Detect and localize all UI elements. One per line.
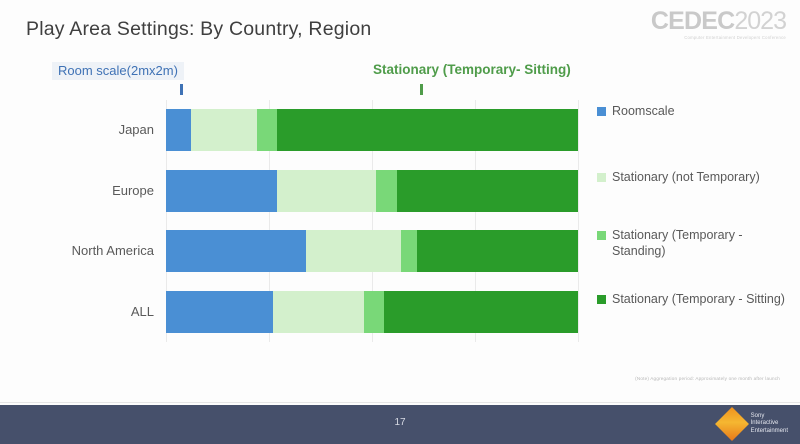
legend-label: Roomscale [612,104,675,120]
sie-brand-line-3: Entertainment [751,428,788,435]
annotation-room-scale: Room scale(2mx2m) [52,62,184,80]
chart-gridline [578,100,579,342]
sie-brand-line-1: Sony [751,413,788,420]
legend-swatch-icon [597,295,606,304]
footnote: (Note) Aggregation period: Approximately… [635,376,780,381]
chart-segment[interactable] [384,291,578,333]
legend-swatch-icon [597,173,606,182]
sie-brand-text: Sony Interactive Entertainment [751,413,788,435]
legend-swatch-icon [597,107,606,116]
sony-interactive-entertainment-logo: Sony Interactive Entertainment [720,412,788,436]
cedec-logo-subtitle: Computer Entertainment Developers Confer… [646,35,786,40]
legend-label: Stationary (Temporary - Standing) [612,228,793,259]
legend-label: Stationary (not Temporary) [612,170,760,186]
chart-category-label: Europe [112,183,154,198]
slide: Play Area Settings: By Country, Region C… [0,0,800,444]
chart-category-label: Japan [119,122,154,137]
sie-brand-line-2: Interactive [751,420,788,427]
chart-segment[interactable] [277,109,578,151]
chart-segment[interactable] [376,170,397,212]
chart-segment[interactable] [397,170,578,212]
chart-segment[interactable] [257,109,278,151]
chart-segment[interactable] [277,170,376,212]
sie-diamond-icon [715,407,749,441]
chart-segment[interactable] [273,291,364,333]
chart-category-label: North America [72,243,154,258]
page-number: 17 [0,417,800,428]
legend-item[interactable]: Stationary (Temporary - Sitting) [597,292,785,308]
cedec-logo-year: 2023 [734,7,786,35]
chart-segment[interactable] [166,230,306,272]
legend-item[interactable]: Stationary (not Temporary) [597,170,760,186]
cedec-logo: CEDEC2023 Computer Entertainment Develop… [646,9,786,45]
annotation-stationary-sitting-tick [420,84,423,95]
legend-item[interactable]: Stationary (Temporary - Standing) [597,228,793,259]
chart-segment[interactable] [364,291,385,333]
chart-plot-area [166,100,578,342]
chart-bar-europe[interactable] [166,170,578,212]
chart-bar-north-america[interactable] [166,230,578,272]
annotation-stationary-sitting: Stationary (Temporary- Sitting) [373,62,571,77]
chart-segment[interactable] [166,291,273,333]
chart-bar-japan[interactable] [166,109,578,151]
chart-segment[interactable] [166,109,191,151]
legend-swatch-icon [597,231,606,240]
footer-divider [0,402,800,403]
legend-label: Stationary (Temporary - Sitting) [612,292,785,308]
footer-bar: 17 Sony Interactive Entertainment [0,405,800,444]
legend-item[interactable]: Roomscale [597,104,675,120]
cedec-logo-name: CEDEC [651,7,735,35]
cedec-logo-wordmark: CEDEC2023 [646,9,786,34]
annotation-room-scale-tick [180,84,183,95]
chart-segment[interactable] [306,230,401,272]
page-title: Play Area Settings: By Country, Region [26,18,371,41]
chart-segment[interactable] [417,230,578,272]
chart-segment[interactable] [191,109,257,151]
chart-segment[interactable] [166,170,277,212]
chart-bar-all[interactable] [166,291,578,333]
chart-segment[interactable] [401,230,417,272]
chart-category-label: ALL [131,304,154,319]
